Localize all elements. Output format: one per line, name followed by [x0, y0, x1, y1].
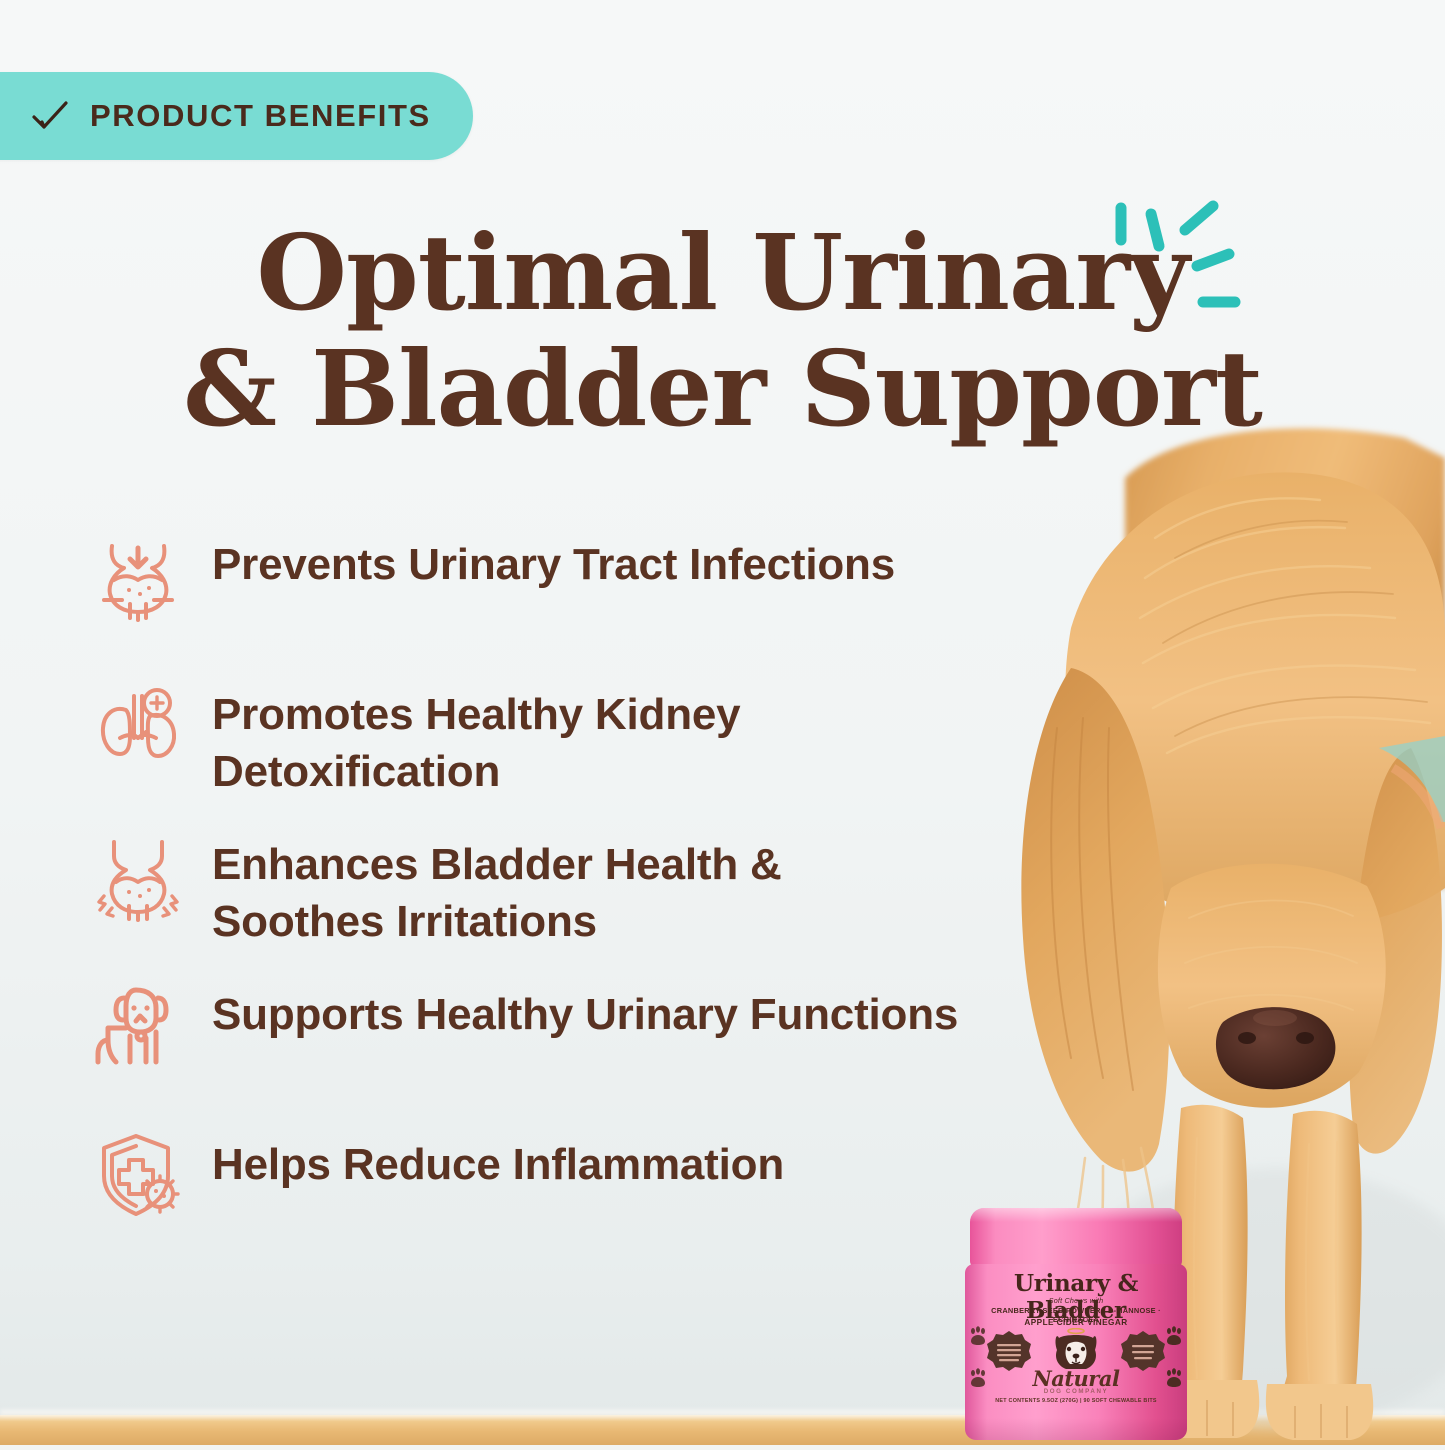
- jar-lid: [970, 1208, 1182, 1268]
- benefit-text: Prevents Urinary Tract Infections: [212, 520, 895, 593]
- benefit-line: Detoxification: [212, 743, 740, 800]
- headline-line-2: & Bladder Support: [0, 331, 1445, 447]
- kidneys-plus-icon: [86, 672, 190, 776]
- benefit-item: Promotes Healthy Kidney Detoxification: [86, 670, 1096, 820]
- benefit-line: Supports Healthy Urinary Functions: [212, 986, 958, 1043]
- product-benefits-badge: PRODUCT BENEFITS: [0, 72, 473, 160]
- product-jar[interactable]: Urinary & Bladder Soft Chews with CRANBE…: [962, 1208, 1190, 1440]
- jar-subtitle: Soft Chews with: [976, 1296, 1176, 1305]
- benefit-text: Promotes Healthy Kidney Detoxification: [212, 670, 740, 800]
- benefit-item: Supports Healthy Urinary Functions: [86, 970, 1096, 1120]
- bladder-down-arrow-icon: [86, 522, 190, 626]
- benefit-item: Prevents Urinary Tract Infections: [86, 520, 1096, 670]
- benefit-line: Prevents Urinary Tract Infections: [212, 536, 895, 593]
- benefit-text: Helps Reduce Inflammation: [212, 1120, 784, 1193]
- jar-ingredients-line-2: APPLE CIDER VINEGAR: [970, 1318, 1182, 1327]
- paw-badge-icon: [968, 1368, 988, 1394]
- paw-badge-icon: [1164, 1368, 1184, 1394]
- dog-standing-icon: [86, 972, 190, 1076]
- benefit-line: Promotes Healthy Kidney: [212, 686, 740, 743]
- benefit-text: Supports Healthy Urinary Functions: [212, 970, 958, 1043]
- sparkle-icon: [1105, 192, 1255, 322]
- benefit-item: Helps Reduce Inflammation: [86, 1120, 1096, 1270]
- benefit-line: Enhances Bladder Health &: [212, 836, 782, 893]
- jar-net-contents: NET CONTENTS 9.5OZ (270G) | 90 SOFT CHEW…: [962, 1398, 1190, 1404]
- shield-cross-germ-icon: [86, 1122, 190, 1226]
- bladder-irritation-icon: [86, 822, 190, 926]
- jar-brand-subtitle: DOG COMPANY: [962, 1388, 1190, 1395]
- benefit-item: Enhances Bladder Health & Soothes Irrita…: [86, 820, 1096, 970]
- headline-line-1: Optimal Urinary: [256, 211, 1188, 334]
- benefit-text: Enhances Bladder Health & Soothes Irrita…: [212, 820, 782, 950]
- benefit-line: Helps Reduce Inflammation: [212, 1136, 784, 1193]
- check-icon: [30, 99, 70, 133]
- badge-label: PRODUCT BENEFITS: [90, 98, 431, 134]
- poster-stage: PRODUCT BENEFITS Optimal Urinary & Bladd…: [0, 0, 1445, 1445]
- paw-badge-icon: [968, 1326, 988, 1352]
- benefits-list: Prevents Urinary Tract Infections Promot…: [86, 520, 1096, 1270]
- paw-badge-icon: [1164, 1326, 1184, 1352]
- benefit-line: Soothes Irritations: [212, 893, 782, 950]
